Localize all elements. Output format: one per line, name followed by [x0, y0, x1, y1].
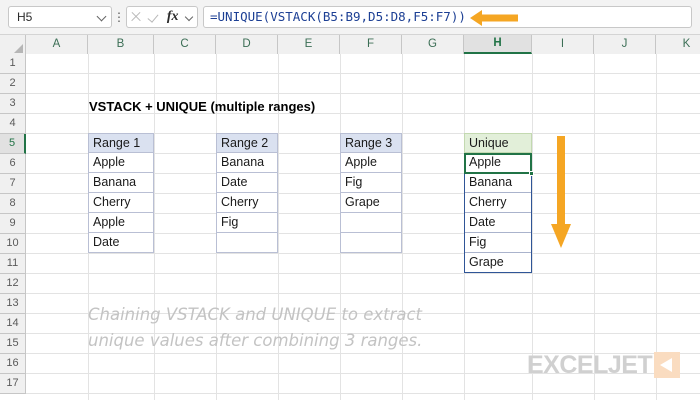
column-header-g[interactable]: G: [402, 35, 464, 54]
row-header-13[interactable]: 13: [0, 294, 26, 314]
unique-result-cell[interactable]: Grape: [464, 253, 532, 273]
range3-header: Range 3: [340, 133, 402, 153]
jet-triangle-icon: [654, 352, 680, 378]
unique-result-cell[interactable]: Apple: [464, 153, 532, 173]
range3-cell[interactable]: Apple: [340, 153, 402, 173]
unique-result-cell[interactable]: Fig: [464, 233, 532, 253]
range2-cell[interactable]: Date: [216, 173, 278, 193]
row-header-6[interactable]: 6: [0, 154, 26, 174]
range3-cell[interactable]: [340, 213, 402, 233]
range1-table[interactable]: Range 1 Apple Banana Cherry Apple Date: [88, 133, 154, 253]
column-header-j[interactable]: J: [594, 35, 656, 54]
range1-cell[interactable]: Apple: [88, 213, 154, 233]
row-header-17[interactable]: 17: [0, 374, 26, 394]
column-header-c[interactable]: C: [154, 35, 216, 54]
unique-table[interactable]: Unique Apple Banana Cherry Date Fig Grap…: [464, 133, 532, 273]
fill-handle[interactable]: [529, 171, 534, 176]
row-header-15[interactable]: 15: [0, 334, 26, 354]
more-options-icon[interactable]: ⋮: [112, 12, 126, 22]
arrow-left-icon: [470, 9, 518, 27]
range3-cell[interactable]: Grape: [340, 193, 402, 213]
unique-header: Unique: [464, 133, 532, 153]
range2-table[interactable]: Range 2 Banana Date Cherry Fig: [216, 133, 278, 253]
check-icon[interactable]: [148, 11, 160, 23]
range3-table[interactable]: Range 3 Apple Fig Grape: [340, 133, 402, 253]
column-header-h[interactable]: H: [464, 35, 532, 54]
chevron-down-icon[interactable]: [97, 12, 107, 22]
unique-result-cell[interactable]: Banana: [464, 173, 532, 193]
range3-cell[interactable]: [340, 233, 402, 253]
formula-text: =UNIQUE(VSTACK(B5:B9,D5:D8,F5:F7)): [210, 7, 466, 27]
range2-cell[interactable]: Banana: [216, 153, 278, 173]
range1-header: Range 1: [88, 133, 154, 153]
row-header-11[interactable]: 11: [0, 254, 26, 274]
name-box-value: H5: [17, 7, 97, 27]
unique-result-cell[interactable]: Cherry: [464, 193, 532, 213]
row-header-10[interactable]: 10: [0, 234, 26, 254]
cells-area[interactable]: VSTACK + UNIQUE (multiple ranges) Range …: [26, 54, 700, 400]
column-header-e[interactable]: E: [278, 35, 340, 54]
formula-bar: H5 ⋮ fx =UNIQUE(VSTACK(B5:B9,D5:D8,F5:F7…: [0, 0, 700, 35]
formula-controls: fx: [126, 6, 198, 28]
exceljet-logo: EXCELJET: [527, 352, 680, 378]
arrow-down-icon: [550, 136, 572, 248]
range1-cell[interactable]: Banana: [88, 173, 154, 193]
gridline: [532, 54, 533, 400]
caption-line-2: unique values after combining 3 ranges.: [88, 328, 422, 354]
gridline: [26, 393, 700, 394]
row-header-2[interactable]: 2: [0, 74, 26, 94]
page-title: VSTACK + UNIQUE (multiple ranges): [89, 99, 315, 114]
column-header-row: A B C D E F G H I J K: [0, 35, 700, 54]
spreadsheet-grid: A B C D E F G H I J K 1 2 3 4 5 6 7 8 9 …: [0, 35, 700, 400]
caption-line-1: Chaining VSTACK and UNIQUE to extract: [88, 302, 422, 328]
row-header-8[interactable]: 8: [0, 194, 26, 214]
column-header-b[interactable]: B: [88, 35, 154, 54]
gridline: [26, 273, 700, 274]
select-all-corner[interactable]: [0, 35, 26, 54]
range2-cell[interactable]: Fig: [216, 213, 278, 233]
row-header-14[interactable]: 14: [0, 314, 26, 334]
gridline: [26, 93, 700, 94]
row-header-4[interactable]: 4: [0, 114, 26, 134]
unique-result-cell[interactable]: Date: [464, 213, 532, 233]
column-header-f[interactable]: F: [340, 35, 402, 54]
gridline: [26, 73, 700, 74]
fx-icon[interactable]: fx: [167, 10, 179, 24]
row-header-9[interactable]: 9: [0, 214, 26, 234]
gridline: [26, 253, 700, 254]
range2-cell[interactable]: [216, 233, 278, 253]
row-header-7[interactable]: 7: [0, 174, 26, 194]
formula-input[interactable]: =UNIQUE(VSTACK(B5:B9,D5:D8,F5:F7)): [203, 6, 692, 28]
chevron-down-icon[interactable]: [185, 13, 194, 22]
range1-cell[interactable]: Date: [88, 233, 154, 253]
gridline: [26, 293, 700, 294]
row-header-16[interactable]: 16: [0, 354, 26, 374]
range2-header: Range 2: [216, 133, 278, 153]
name-box[interactable]: H5: [8, 6, 112, 28]
column-header-d[interactable]: D: [216, 35, 278, 54]
row-header-3[interactable]: 3: [0, 94, 26, 114]
gridline: [656, 54, 657, 400]
range3-cell[interactable]: Fig: [340, 173, 402, 193]
range1-cell[interactable]: Cherry: [88, 193, 154, 213]
row-header-1[interactable]: 1: [0, 54, 26, 74]
column-header-k[interactable]: K: [656, 35, 700, 54]
row-header-12[interactable]: 12: [0, 274, 26, 294]
column-header-a[interactable]: A: [26, 35, 88, 54]
row-header-column: 1 2 3 4 5 6 7 8 9 10 11 12 13 14 15 16 1…: [0, 54, 26, 394]
gridline: [594, 54, 595, 400]
row-header-5[interactable]: 5: [0, 134, 26, 154]
logo-text: EXCELJET: [527, 352, 652, 378]
range2-cell[interactable]: Cherry: [216, 193, 278, 213]
column-header-i[interactable]: I: [532, 35, 594, 54]
close-icon[interactable]: [130, 11, 142, 23]
range1-cell[interactable]: Apple: [88, 153, 154, 173]
